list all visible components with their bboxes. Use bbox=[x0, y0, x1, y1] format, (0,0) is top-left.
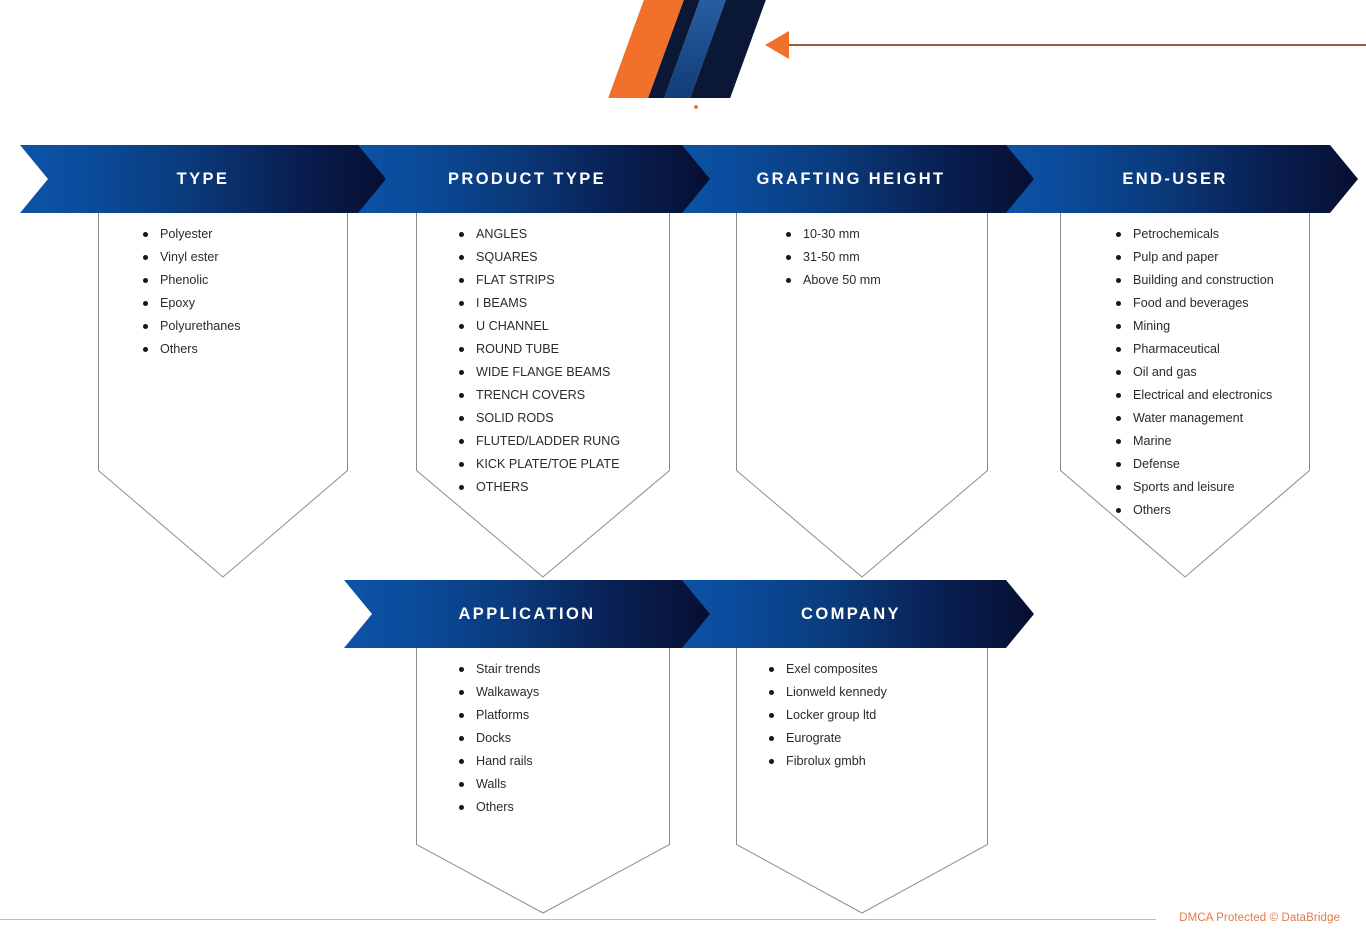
bullet-icon bbox=[459, 301, 464, 306]
bullet-icon bbox=[459, 439, 464, 444]
bullet-icon bbox=[1116, 324, 1121, 329]
bullet-icon bbox=[1116, 232, 1121, 237]
bullet-icon bbox=[1116, 485, 1121, 490]
list-item-label: Others bbox=[476, 796, 514, 819]
list-item: KICK PLATE/TOE PLATE bbox=[459, 453, 620, 476]
list-item: Water management bbox=[1116, 407, 1274, 430]
list-item: Fibrolux gmbh bbox=[769, 750, 887, 773]
list-item: Locker group ltd bbox=[769, 704, 887, 727]
banner-label-application: APPLICATION bbox=[458, 605, 595, 624]
list-item: Others bbox=[143, 338, 241, 361]
banner-application[interactable]: APPLICATION bbox=[344, 580, 710, 648]
bullet-icon bbox=[1116, 393, 1121, 398]
list-item-label: Phenolic bbox=[160, 269, 208, 292]
list-item: Building and construction bbox=[1116, 269, 1274, 292]
list-item: Pulp and paper bbox=[1116, 246, 1274, 269]
bullet-icon bbox=[143, 301, 148, 306]
list-item-label: Others bbox=[160, 338, 198, 361]
list-item: WIDE FLANGE BEAMS bbox=[459, 361, 620, 384]
list-item: OTHERS bbox=[459, 476, 620, 499]
list-item: 10-30 mm bbox=[786, 223, 881, 246]
list-item-label: Petrochemicals bbox=[1133, 223, 1219, 246]
list-item-label: Sports and leisure bbox=[1133, 476, 1235, 499]
list-item-label: TRENCH COVERS bbox=[476, 384, 585, 407]
list-item-label: Vinyl ester bbox=[160, 246, 219, 269]
bullet-icon bbox=[1116, 278, 1121, 283]
left-arrow-icon bbox=[765, 31, 789, 59]
list-item-label: Locker group ltd bbox=[786, 704, 876, 727]
bullet-icon bbox=[1116, 255, 1121, 260]
list-item-label: Walkaways bbox=[476, 681, 539, 704]
bullet-icon bbox=[769, 759, 774, 764]
bullet-icon bbox=[1116, 301, 1121, 306]
list-item: Electrical and electronics bbox=[1116, 384, 1274, 407]
bullet-icon bbox=[143, 324, 148, 329]
bullet-icon bbox=[769, 690, 774, 695]
list-item-label: Exel composites bbox=[786, 658, 878, 681]
list-item: FLAT STRIPS bbox=[459, 269, 620, 292]
list-item-label: Building and construction bbox=[1133, 269, 1274, 292]
banner-label-grafting-height: GRAFTING HEIGHT bbox=[756, 170, 945, 189]
bullet-icon bbox=[459, 462, 464, 467]
bullet-icon bbox=[459, 782, 464, 787]
list-item-label: ROUND TUBE bbox=[476, 338, 559, 361]
list-item: Marine bbox=[1116, 430, 1274, 453]
bullet-icon bbox=[459, 232, 464, 237]
list-item-label: 10-30 mm bbox=[803, 223, 860, 246]
list-item-label: Platforms bbox=[476, 704, 529, 727]
bullet-icon bbox=[1116, 370, 1121, 375]
page-header: MOLDED FIBREGLASS REINFORCED PLASTIC (FR… bbox=[0, 0, 1366, 98]
list-item-label: FLAT STRIPS bbox=[476, 269, 555, 292]
list-item-label: U CHANNEL bbox=[476, 315, 549, 338]
bullet-icon bbox=[1116, 347, 1121, 352]
list-item-label: OTHERS bbox=[476, 476, 528, 499]
bullet-icon bbox=[143, 347, 148, 352]
banner-product-type[interactable]: PRODUCT TYPE bbox=[344, 145, 710, 213]
bullet-icon bbox=[1116, 508, 1121, 513]
list-item-label: Epoxy bbox=[160, 292, 195, 315]
list-item: I BEAMS bbox=[459, 292, 620, 315]
bullet-icon bbox=[1116, 462, 1121, 467]
banner-label-company: COMPANY bbox=[801, 605, 901, 624]
list-item: Oil and gas bbox=[1116, 361, 1274, 384]
bullet-icon bbox=[459, 759, 464, 764]
list-item: Lionweld kennedy bbox=[769, 681, 887, 704]
list-end-user: PetrochemicalsPulp and paperBuilding and… bbox=[1116, 223, 1274, 522]
bullet-icon bbox=[459, 667, 464, 672]
bullet-icon bbox=[769, 713, 774, 718]
bullet-icon bbox=[459, 255, 464, 260]
list-item-label: Above 50 mm bbox=[803, 269, 881, 292]
bullet-icon bbox=[459, 736, 464, 741]
list-item: Epoxy bbox=[143, 292, 241, 315]
list-item-label: Polyurethanes bbox=[160, 315, 241, 338]
list-item-label: Marine bbox=[1133, 430, 1172, 453]
bullet-icon bbox=[459, 370, 464, 375]
list-item-label: Hand rails bbox=[476, 750, 533, 773]
bullet-icon bbox=[143, 255, 148, 260]
list-item-label: Stair trends bbox=[476, 658, 540, 681]
list-item: Walkaways bbox=[459, 681, 540, 704]
dmca-notice: DMCA Protected © DataBridge bbox=[1179, 912, 1340, 924]
banner-label-product-type: PRODUCT TYPE bbox=[448, 170, 606, 189]
bullet-icon bbox=[1116, 439, 1121, 444]
bullet-icon bbox=[786, 232, 791, 237]
list-item-label: Fibrolux gmbh bbox=[786, 750, 866, 773]
bullet-icon bbox=[1116, 416, 1121, 421]
list-item: Vinyl ester bbox=[143, 246, 241, 269]
list-item: Walls bbox=[459, 773, 540, 796]
list-item-label: ANGLES bbox=[476, 223, 527, 246]
list-item-label: Pharmaceutical bbox=[1133, 338, 1220, 361]
accent-dot bbox=[694, 105, 698, 109]
list-item-label: Mining bbox=[1133, 315, 1170, 338]
list-item-label: Others bbox=[1133, 499, 1171, 522]
banner-end-user[interactable]: END-USER bbox=[992, 145, 1358, 213]
bullet-icon bbox=[769, 667, 774, 672]
list-item-label: Water management bbox=[1133, 407, 1243, 430]
list-item-label: Polyester bbox=[160, 223, 213, 246]
list-product-type: ANGLESSQUARESFLAT STRIPSI BEAMSU CHANNEL… bbox=[459, 223, 620, 499]
list-application: Stair trendsWalkawaysPlatformsDocksHand … bbox=[459, 658, 540, 819]
list-item: Defense bbox=[1116, 453, 1274, 476]
list-item-label: Docks bbox=[476, 727, 511, 750]
list-item-label: Oil and gas bbox=[1133, 361, 1197, 384]
bullet-icon bbox=[459, 416, 464, 421]
list-item: ROUND TUBE bbox=[459, 338, 620, 361]
bullet-icon bbox=[459, 485, 464, 490]
list-item: ANGLES bbox=[459, 223, 620, 246]
list-item: Petrochemicals bbox=[1116, 223, 1274, 246]
bullet-icon bbox=[459, 690, 464, 695]
list-item: SOLID RODS bbox=[459, 407, 620, 430]
list-item: SQUARES bbox=[459, 246, 620, 269]
list-item: Others bbox=[1116, 499, 1274, 522]
list-type: PolyesterVinyl esterPhenolicEpoxyPolyure… bbox=[143, 223, 241, 361]
list-item-label: Defense bbox=[1133, 453, 1180, 476]
list-item: Docks bbox=[459, 727, 540, 750]
bullet-icon bbox=[459, 805, 464, 810]
bullet-icon bbox=[459, 278, 464, 283]
page-title: MOLDED FIBREGLASS REINFORCED PLASTIC (FR… bbox=[50, 16, 630, 80]
bullet-icon bbox=[143, 232, 148, 237]
list-item: TRENCH COVERS bbox=[459, 384, 620, 407]
banner-type[interactable]: TYPE bbox=[20, 145, 386, 213]
list-item-label: SOLID RODS bbox=[476, 407, 554, 430]
list-item-label: WIDE FLANGE BEAMS bbox=[476, 361, 610, 384]
list-company: Exel compositesLionweld kennedyLocker gr… bbox=[769, 658, 887, 773]
footer-divider bbox=[0, 919, 1156, 920]
list-item-label: FLUTED/LADDER RUNG bbox=[476, 430, 620, 453]
list-item: Sports and leisure bbox=[1116, 476, 1274, 499]
bullet-icon bbox=[769, 736, 774, 741]
list-item-label: 31-50 mm bbox=[803, 246, 860, 269]
list-item: Above 50 mm bbox=[786, 269, 881, 292]
list-item: Polyester bbox=[143, 223, 241, 246]
banner-label-type: TYPE bbox=[177, 170, 230, 189]
list-item: Polyurethanes bbox=[143, 315, 241, 338]
list-item-label: SQUARES bbox=[476, 246, 538, 269]
list-item: Exel composites bbox=[769, 658, 887, 681]
bullet-icon bbox=[459, 713, 464, 718]
bullet-icon bbox=[459, 393, 464, 398]
list-item: Platforms bbox=[459, 704, 540, 727]
ribbon-application bbox=[416, 648, 670, 914]
list-item: Food and beverages bbox=[1116, 292, 1274, 315]
bullet-icon bbox=[459, 324, 464, 329]
list-item-label: Eurograte bbox=[786, 727, 841, 750]
list-item: Pharmaceutical bbox=[1116, 338, 1274, 361]
banner-grafting-height[interactable]: GRAFTING HEIGHT bbox=[668, 145, 1034, 213]
list-item: Mining bbox=[1116, 315, 1274, 338]
list-item: Stair trends bbox=[459, 658, 540, 681]
list-item: Eurograte bbox=[769, 727, 887, 750]
list-grafting-height: 10-30 mm31-50 mmAbove 50 mm bbox=[786, 223, 881, 292]
list-item-label: Walls bbox=[476, 773, 506, 796]
list-item: U CHANNEL bbox=[459, 315, 620, 338]
banner-company[interactable]: COMPANY bbox=[668, 580, 1034, 648]
list-item-label: Food and beverages bbox=[1133, 292, 1249, 315]
list-item-label: Lionweld kennedy bbox=[786, 681, 887, 704]
list-item: Hand rails bbox=[459, 750, 540, 773]
list-item-label: Pulp and paper bbox=[1133, 246, 1218, 269]
bullet-icon bbox=[459, 347, 464, 352]
banner-label-end-user: END-USER bbox=[1122, 170, 1227, 189]
bullet-icon bbox=[786, 255, 791, 260]
list-item-label: KICK PLATE/TOE PLATE bbox=[476, 453, 619, 476]
list-item: Phenolic bbox=[143, 269, 241, 292]
list-item: 31-50 mm bbox=[786, 246, 881, 269]
list-item-label: Electrical and electronics bbox=[1133, 384, 1272, 407]
list-item: Others bbox=[459, 796, 540, 819]
list-item: FLUTED/LADDER RUNG bbox=[459, 430, 620, 453]
bullet-icon bbox=[786, 278, 791, 283]
bullet-icon bbox=[143, 278, 148, 283]
header-divider-line bbox=[789, 44, 1366, 46]
list-item-label: I BEAMS bbox=[476, 292, 527, 315]
